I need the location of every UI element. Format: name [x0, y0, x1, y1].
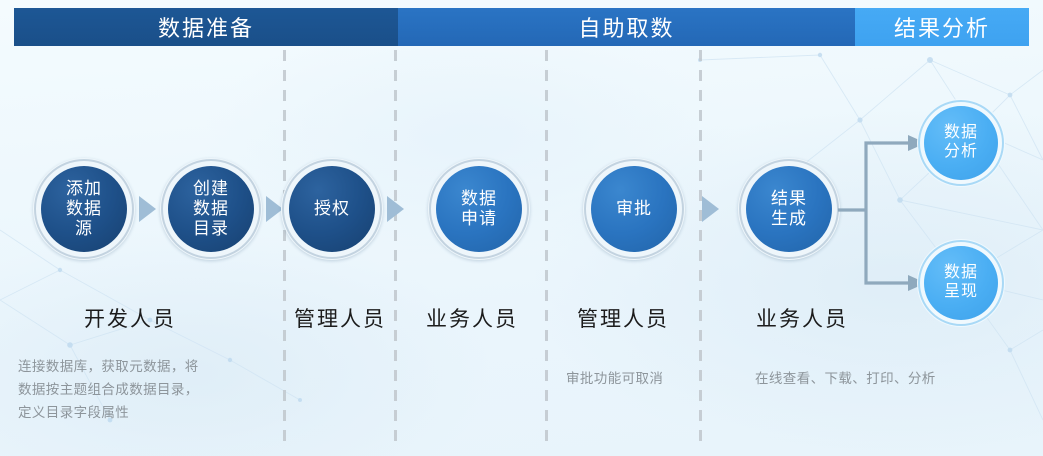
phase-header-self-service-query: 自助取数 [398, 8, 855, 46]
role-label-business-1: 业务人员 [426, 303, 518, 333]
node-label-line: 结果 [771, 189, 807, 209]
column-divider-3 [545, 50, 548, 442]
flow-node-add-data-source[interactable]: 添加 数据 源 [33, 158, 135, 260]
description-data-preparation: 连接数据库，获取元数据，将 数据按主题组合成数据目录， 定义目录字段属性 [18, 355, 273, 425]
node-label-line: 创建 [193, 179, 229, 199]
phase-header-label: 数据准备 [158, 11, 254, 43]
flow-node-approval[interactable]: 审批 [583, 158, 685, 260]
phase-header-result-analysis: 结果分析 [855, 8, 1029, 46]
node-label-line: 申请 [461, 209, 497, 229]
phase-header-data-preparation: 数据准备 [14, 8, 398, 46]
role-label-admin-2: 管理人员 [577, 303, 669, 333]
arrow-icon-3 [387, 196, 404, 222]
node-label-line: 分析 [944, 143, 978, 162]
column-divider-2 [394, 50, 397, 442]
description-line: 在线查看、下载、打印、分析 [755, 367, 936, 390]
column-divider-4 [699, 50, 702, 442]
flow-node-data-presentation[interactable]: 数据 呈现 [917, 239, 1005, 327]
node-label-line: 数据 [193, 199, 229, 219]
node-label-line: 添加 [66, 179, 102, 199]
phase-header-label: 自助取数 [578, 11, 674, 43]
description-approval: 审批功能可取消 [566, 367, 663, 390]
flow-node-data-request[interactable]: 数据 申请 [428, 158, 530, 260]
role-label-developer: 开发人员 [84, 303, 176, 333]
role-label-admin-1: 管理人员 [294, 303, 386, 333]
node-label-line: 目录 [193, 219, 229, 239]
node-label-line: 数据 [66, 199, 102, 219]
node-label-line: 数据 [944, 124, 978, 143]
node-label-line: 授权 [314, 199, 350, 219]
flow-node-data-analysis[interactable]: 数据 分析 [917, 99, 1005, 187]
description-analysis: 在线查看、下载、打印、分析 [755, 367, 936, 390]
role-label-business-2: 业务人员 [756, 303, 848, 333]
description-line: 定义目录字段属性 [18, 401, 273, 424]
column-divider-1 [283, 50, 286, 442]
arrow-icon-1 [139, 196, 156, 222]
flow-node-result-generation[interactable]: 结果 生成 [738, 158, 840, 260]
description-line: 审批功能可取消 [566, 367, 663, 390]
diagram-canvas: 数据准备 自助取数 结果分析 添加 数据 源 创建 数据 目录 [0, 0, 1043, 456]
arrow-icon-4 [702, 196, 719, 222]
phase-header-label: 结果分析 [894, 11, 990, 43]
node-label-line: 数据 [461, 189, 497, 209]
node-label-line: 审批 [616, 199, 652, 219]
node-label-line: 源 [66, 219, 102, 239]
node-label-line: 生成 [771, 209, 807, 229]
flow-node-authorize[interactable]: 授权 [281, 158, 383, 260]
node-label-line: 呈现 [944, 283, 978, 302]
flow-node-create-catalog[interactable]: 创建 数据 目录 [160, 158, 262, 260]
description-line: 连接数据库，获取元数据，将 [18, 355, 273, 378]
node-label-line: 数据 [944, 264, 978, 283]
description-line: 数据按主题组合成数据目录， [18, 378, 273, 401]
